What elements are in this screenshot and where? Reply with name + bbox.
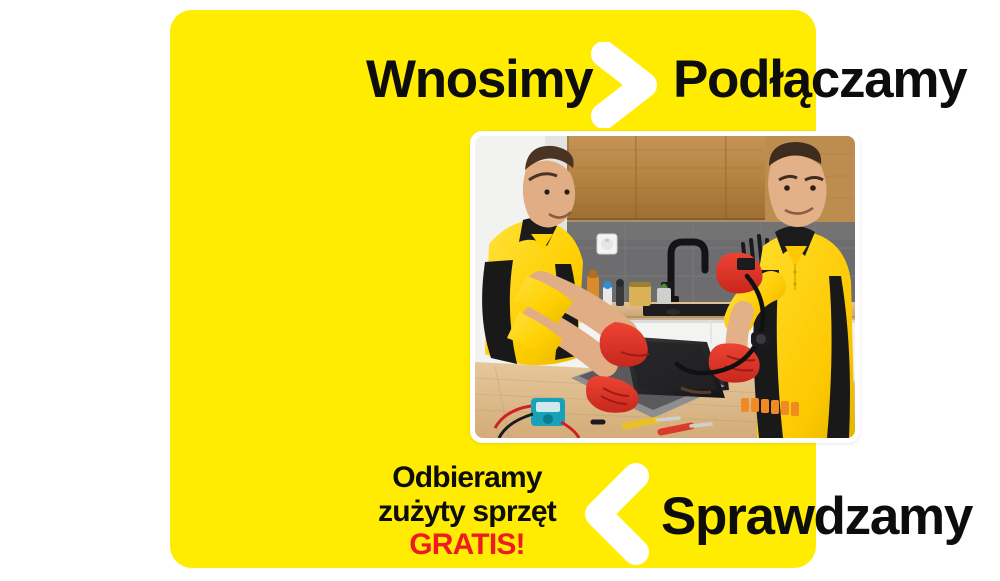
- headline-sprawdzamy: Sprawdzamy: [661, 490, 972, 543]
- pickup-free-label: GRATIS!: [356, 528, 578, 562]
- pickup-line-1: Odbieramy: [356, 461, 578, 495]
- pickup-line-2: zużyty sprzęt: [356, 495, 578, 529]
- chevron-left-icon: [582, 462, 652, 566]
- chevron-right-icon: [590, 42, 660, 128]
- photo-frame: [470, 131, 860, 443]
- installation-photo: [475, 136, 855, 438]
- promo-banner: Wnosimy Podłączamy: [0, 0, 1000, 581]
- chevron-down-icon: [870, 262, 956, 332]
- promo-card: Wnosimy Podłączamy: [170, 10, 816, 568]
- pickup-text-block: Odbieramy zużyty sprzęt GRATIS!: [356, 461, 578, 562]
- headline-podlaczamy: Podłączamy: [673, 53, 966, 106]
- headline-wnosimy: Wnosimy: [366, 53, 592, 106]
